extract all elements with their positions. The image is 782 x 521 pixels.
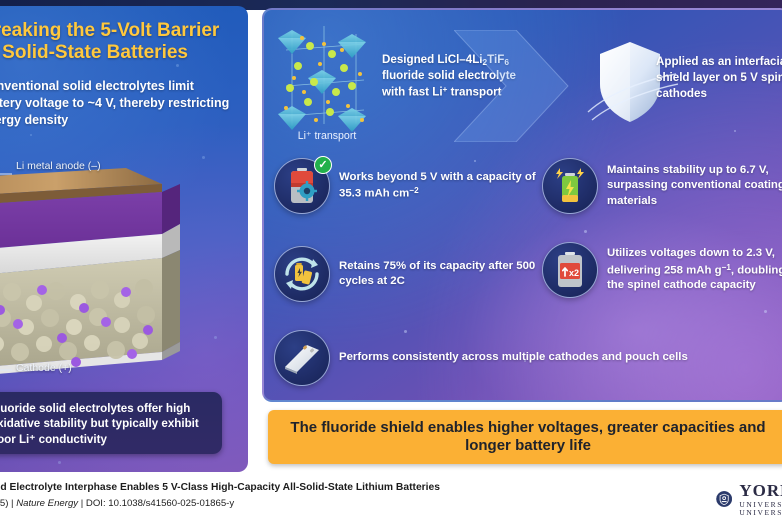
summary-banner-text: The fluoride shield enables higher volta… <box>268 419 782 456</box>
crystal-lattice-icon <box>272 20 380 138</box>
feature-row-3: Retains 75% of its capacity after 500 cy… <box>274 246 544 302</box>
battery-cycle-icon <box>274 246 330 302</box>
page-title: Breaking the 5-Volt Barrier in Solid-Sta… <box>0 20 238 63</box>
york-university-logo: YORK UNIVERSITÉ UNIVERSITY <box>716 482 782 516</box>
chevron-right-icon <box>454 30 578 142</box>
cathode-label: Cathode (+) <box>16 362 72 374</box>
feature-row-1: ✓ Works beyond 5 V with a capacity of 35… <box>274 158 544 214</box>
feature-row-2: Maintains stability up to 6.7 V, surpass… <box>542 158 782 214</box>
york-logo-name: YORK <box>739 481 782 500</box>
york-logo-text: YORK UNIVERSITÉ UNIVERSITY <box>739 482 782 516</box>
feature-row-5: Performs consistently across multiple ca… <box>274 330 782 386</box>
battery-stack-svg <box>0 158 216 386</box>
battery-x2-icon: x2 <box>542 242 598 298</box>
feature-row-4: x2 Utilizes voltages down to 2.3 V, deli… <box>542 242 782 298</box>
pouch-cell-icon <box>274 330 330 386</box>
footer: Fluoride Solid Electrolyte Interphase En… <box>0 474 782 521</box>
crystal-caption: Li⁺ transport <box>272 130 382 142</box>
feature-3-text: Retains 75% of its capacity after 500 cy… <box>339 259 544 290</box>
feature-1-text: Works beyond 5 V with a capacity of 35.3… <box>339 170 544 202</box>
battery-bolt-icon <box>542 158 598 214</box>
svg-text:x2: x2 <box>569 268 579 278</box>
battery-gear-icon: ✓ <box>274 158 330 214</box>
anode-label: Li metal anode (–) <box>16 160 101 172</box>
left-callout-text: Fluoride solid electrolytes offer high o… <box>0 401 212 447</box>
right-panel: Li⁺ transport Designed LiCl–4Li2TiF6 flu… <box>262 8 782 402</box>
left-callout-box: Fluoride solid electrolytes offer high o… <box>0 392 222 454</box>
feature-2-text: Maintains stability up to 6.7 V, surpass… <box>607 163 782 210</box>
top-item-2-text: Applied as an interfacial shield layer o… <box>656 54 782 102</box>
summary-banner: The fluoride shield enables higher volta… <box>268 410 782 464</box>
york-shield-icon <box>716 485 732 513</box>
citation-meta: Kim et al. (2025) | Nature Energy | DOI:… <box>0 498 234 509</box>
citation-meta-prefix: Kim et al. (2025) | <box>0 498 16 509</box>
citation-journal: Nature Energy <box>16 498 78 509</box>
feature-5-text: Performs consistently across multiple ca… <box>339 350 688 366</box>
left-subtitle: Conventional solid electrolytes limit ba… <box>0 78 230 129</box>
infographic-page: Breaking the 5-Volt Barrier in Solid-Sta… <box>0 0 782 521</box>
citation-meta-suffix: | DOI: 10.1038/s41560-025-01865-y <box>78 498 234 509</box>
feature-4-text: Utilizes voltages down to 2.3 V, deliver… <box>607 246 782 294</box>
citation-title: Fluoride Solid Electrolyte Interphase En… <box>0 482 440 493</box>
battery-cross-section-diagram: Li metal anode (–) Cathode (+) <box>0 158 216 386</box>
york-logo-sub: UNIVERSITÉ UNIVERSITY <box>739 501 782 516</box>
check-badge-icon: ✓ <box>314 156 332 174</box>
